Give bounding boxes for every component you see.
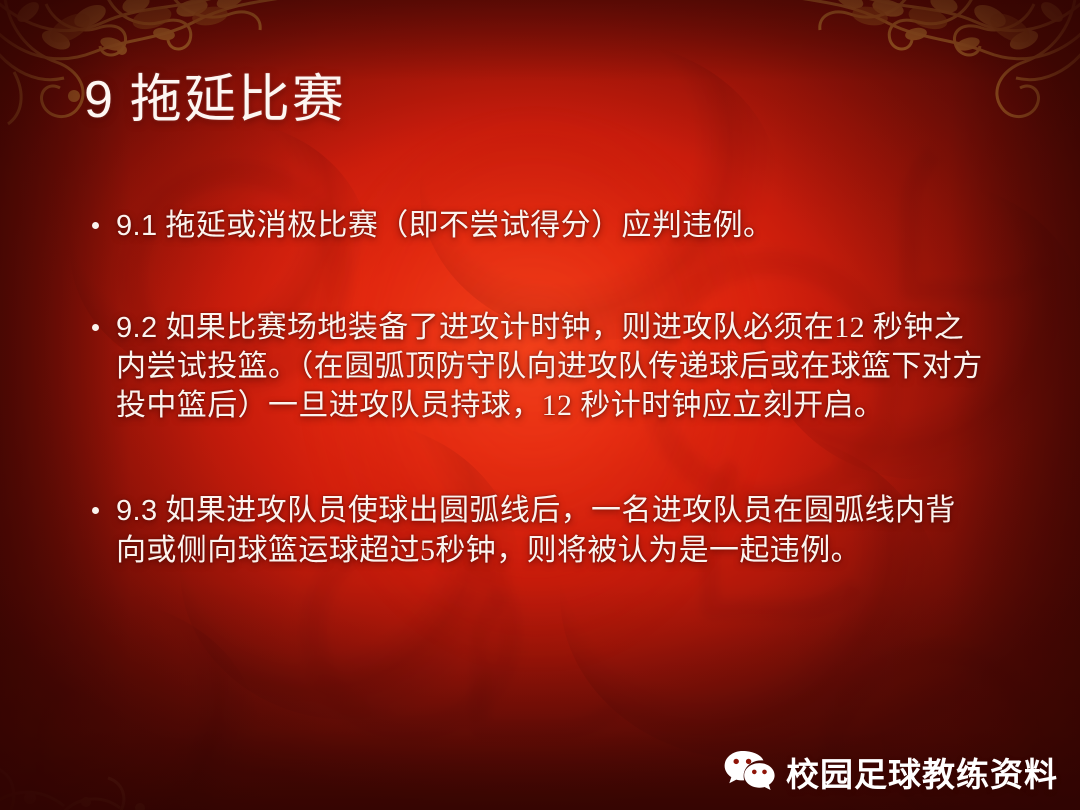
bullet-text: 拖延或消极比赛（即不尝试得分）应判违例。 — [165, 209, 773, 242]
bullet-dot-icon — [92, 507, 99, 514]
list-item: 9.1 拖延或消极比赛（即不尝试得分）应判违例。 — [86, 206, 984, 246]
bullet-dot-icon — [92, 222, 99, 229]
title-text: 拖延比赛 — [130, 72, 346, 129]
page-title: 9 拖延比赛 — [84, 72, 346, 129]
bullet-label: 9.1 — [116, 210, 158, 242]
wechat-watermark: 校园足球教练资料 — [723, 748, 1058, 796]
bullet-dot-icon — [92, 324, 99, 331]
bullet-text: 如果比赛场地装备了进攻计时钟，则进攻队必须在12 秒钟之内尝试投篮。（在圆弧顶防… — [116, 311, 983, 423]
bullet-text: 如果进攻队员使球出圆弧线后，一名进攻队员在圆弧线内背向或侧向球篮运球超过5秒钟，… — [116, 494, 956, 567]
wechat-account-name: 校园足球教练资料 — [786, 748, 1058, 796]
bullet-label: 9.2 — [116, 312, 158, 344]
ornament-top-right — [786, 0, 1080, 150]
wechat-icon — [723, 749, 775, 796]
presentation-slide: 9 拖延比赛 9.1 拖延或消极比赛（即不尝试得分）应判违例。 9.2 如果比赛… — [0, 0, 1080, 810]
list-item: 9.3 如果进攻队员使球出圆弧线后，一名进攻队员在圆弧线内背向或侧向球篮运球超过… — [86, 491, 984, 570]
ornament-bottom-left — [0, 698, 200, 810]
title-number: 9 — [84, 71, 115, 129]
list-item: 9.2 如果比赛场地装备了进攻计时钟，则进攻队必须在12 秒钟之内尝试投篮。（在… — [86, 308, 984, 426]
bullet-label: 9.3 — [116, 495, 158, 527]
bullet-list: 9.1 拖延或消极比赛（即不尝试得分）应判违例。 9.2 如果比赛场地装备了进攻… — [86, 206, 984, 570]
